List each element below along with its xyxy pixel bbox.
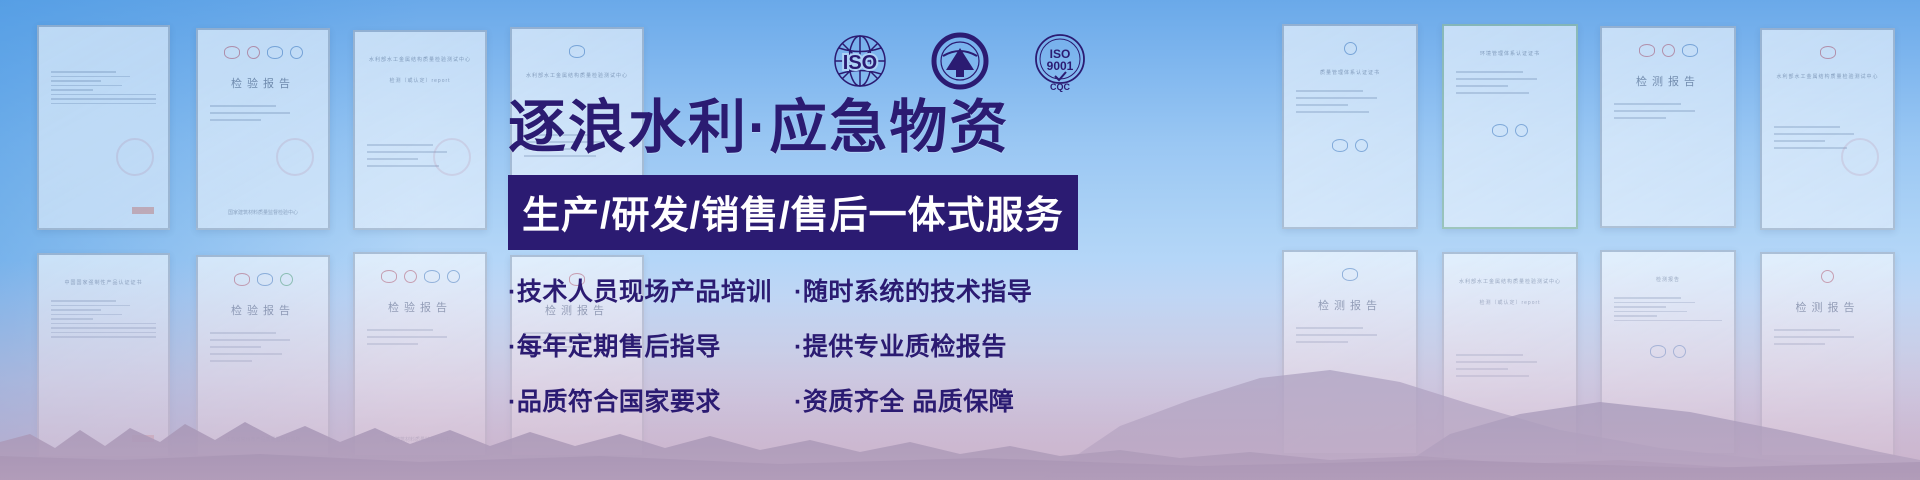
- certificate-text-lines: [1296, 90, 1404, 113]
- feature-item: ·资质齐全 品质保障: [794, 382, 1088, 418]
- feature-item: ·技术人员现场产品培训: [508, 272, 794, 308]
- certificate-stamp: [1841, 138, 1879, 176]
- certificate-text-lines: [1614, 103, 1722, 119]
- certificate-thumb: 质量管理体系认证证书: [1282, 24, 1418, 229]
- certificate-thumb: 水利部水工金属结构质量检验测试中心: [1760, 28, 1895, 230]
- certificate-text-lines: [1456, 71, 1564, 94]
- certificate-thumb: 环境管理体系认证证书: [1442, 24, 1578, 229]
- certificate-text-lines: [210, 105, 316, 121]
- certificate-accreditation-logos: [1296, 139, 1404, 152]
- certificate-thumb: 检测报告: [1600, 26, 1736, 228]
- certificate-logo-row: [524, 45, 630, 58]
- feature-list: ·技术人员现场产品培训 ·随时系统的技术指导 ·每年定期售后指导 ·提供专业质检…: [508, 272, 1088, 418]
- certificate-logo-row: [1614, 44, 1722, 57]
- svg-text:ISO: ISO: [843, 52, 877, 74]
- certificate-logo-row: [1774, 46, 1881, 59]
- certificate-title: 检测报告: [1614, 73, 1722, 89]
- cqc-label: CQC: [1050, 82, 1071, 92]
- certificate-seal-box: [132, 207, 154, 214]
- certificate-thumb: 检验报告 国家建筑材料质量监督检验中心: [196, 28, 330, 230]
- feature-item: ·品质符合国家要求: [508, 382, 794, 418]
- banner-title: 逐浪水利·应急物资: [508, 98, 1088, 159]
- certificate-logo-row: [1296, 42, 1404, 55]
- certificate-title: 水利部水工金属结构质量检验测试中心: [367, 56, 473, 63]
- certificate-footer: 国家建筑材料质量监督检验中心: [198, 209, 328, 216]
- certificate-stamp: [276, 138, 314, 176]
- certificate-header-text: [51, 51, 156, 57]
- iso9001-cqc-badge: ISO 9001 CQC: [1029, 30, 1091, 92]
- feature-item: ·每年定期售后指导: [508, 327, 794, 363]
- certificate-stamp: [433, 138, 471, 176]
- certificate-subtitle: 检测（或认定）report: [367, 77, 473, 84]
- certificate-thumb: [37, 25, 170, 230]
- certification-badges: ISO ISO 9001 CQC: [829, 30, 1091, 92]
- iso-globe-badge: ISO: [829, 30, 891, 92]
- certificate-stamp: [116, 138, 154, 176]
- certificate-title: 检验报告: [210, 75, 316, 91]
- certificate-accreditation-logos: [1456, 124, 1564, 137]
- iso9001-line2: 9001: [1047, 59, 1074, 73]
- certificate-thumb: 水利部水工金属结构质量检验测试中心 检测（或认定）report: [353, 30, 487, 230]
- feature-item: ·提供专业质检报告: [794, 327, 1088, 363]
- certificate-logo-row: [210, 46, 316, 59]
- feature-item: ·随时系统的技术指导: [794, 272, 1088, 308]
- banner-content: 逐浪水利·应急物资 生产/研发/销售/售后一体式服务 ·技术人员现场产品培训 ·…: [508, 98, 1088, 418]
- certificate-title: 质量管理体系认证证书: [1296, 69, 1404, 76]
- promotional-banner: 检验报告 国家建筑材料质量监督检验中心 水利部水工金属结构质量检验测试中心 检测…: [0, 0, 1920, 480]
- certificate-title: 环境管理体系认证证书: [1456, 50, 1564, 57]
- iso9000-seal-badge: [929, 30, 991, 92]
- certificate-text-lines: [51, 71, 156, 104]
- certificate-title: 水利部水工金属结构质量检验测试中心: [1774, 73, 1881, 80]
- certificate-title: 水利部水工金属结构质量检验测试中心: [524, 72, 630, 79]
- banner-subtitle-bar: 生产/研发/销售/售后一体式服务: [508, 175, 1078, 250]
